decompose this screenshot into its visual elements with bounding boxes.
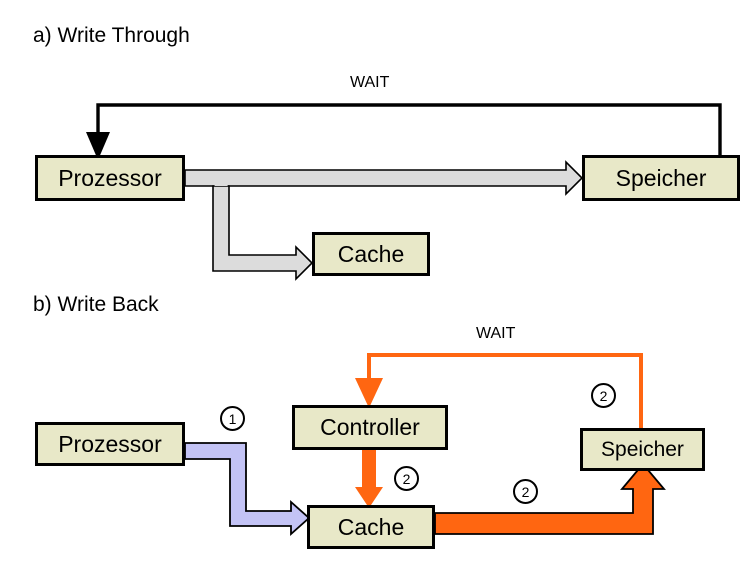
node-controller-b[interactable]: Controller — [292, 405, 448, 450]
step-badge-text: 2 — [600, 388, 608, 404]
node-label: Prozessor — [58, 165, 162, 192]
step-badge-1-processor-to-cache: 1 — [220, 406, 245, 431]
node-label: Controller — [320, 414, 420, 441]
diagram-canvas: a) Write Through WAIT Prozessor Speicher… — [0, 0, 751, 580]
node-label: Prozessor — [58, 431, 162, 458]
node-prozessor-a[interactable]: Prozessor — [35, 155, 185, 201]
flow-arrow-controller-to-cache — [355, 450, 383, 508]
node-speicher-b[interactable]: Speicher — [580, 428, 705, 471]
step-badge-2-cache-to-memory: 2 — [513, 479, 538, 504]
step-badge-text: 1 — [229, 411, 237, 427]
node-cache-a[interactable]: Cache — [312, 232, 430, 276]
node-label: Speicher — [601, 438, 684, 462]
node-prozessor-b[interactable]: Prozessor — [35, 422, 185, 466]
node-label: Cache — [338, 241, 404, 268]
step-badge-2-controller-to-cache: 2 — [394, 466, 419, 491]
node-label: Speicher — [616, 165, 707, 192]
step-badge-text: 2 — [522, 484, 530, 500]
step-badge-text: 2 — [403, 471, 411, 487]
flow-arrow-processor-to-cache-b — [185, 443, 309, 534]
node-speicher-a[interactable]: Speicher — [582, 155, 740, 201]
flow-arrow-cache-to-memory-b — [435, 464, 664, 534]
step-badge-2-memory-wait: 2 — [591, 383, 616, 408]
node-label: Cache — [338, 514, 404, 541]
wait-label-b: WAIT — [476, 325, 515, 343]
wait-label-a: WAIT — [350, 74, 389, 92]
node-cache-b[interactable]: Cache — [307, 505, 435, 549]
